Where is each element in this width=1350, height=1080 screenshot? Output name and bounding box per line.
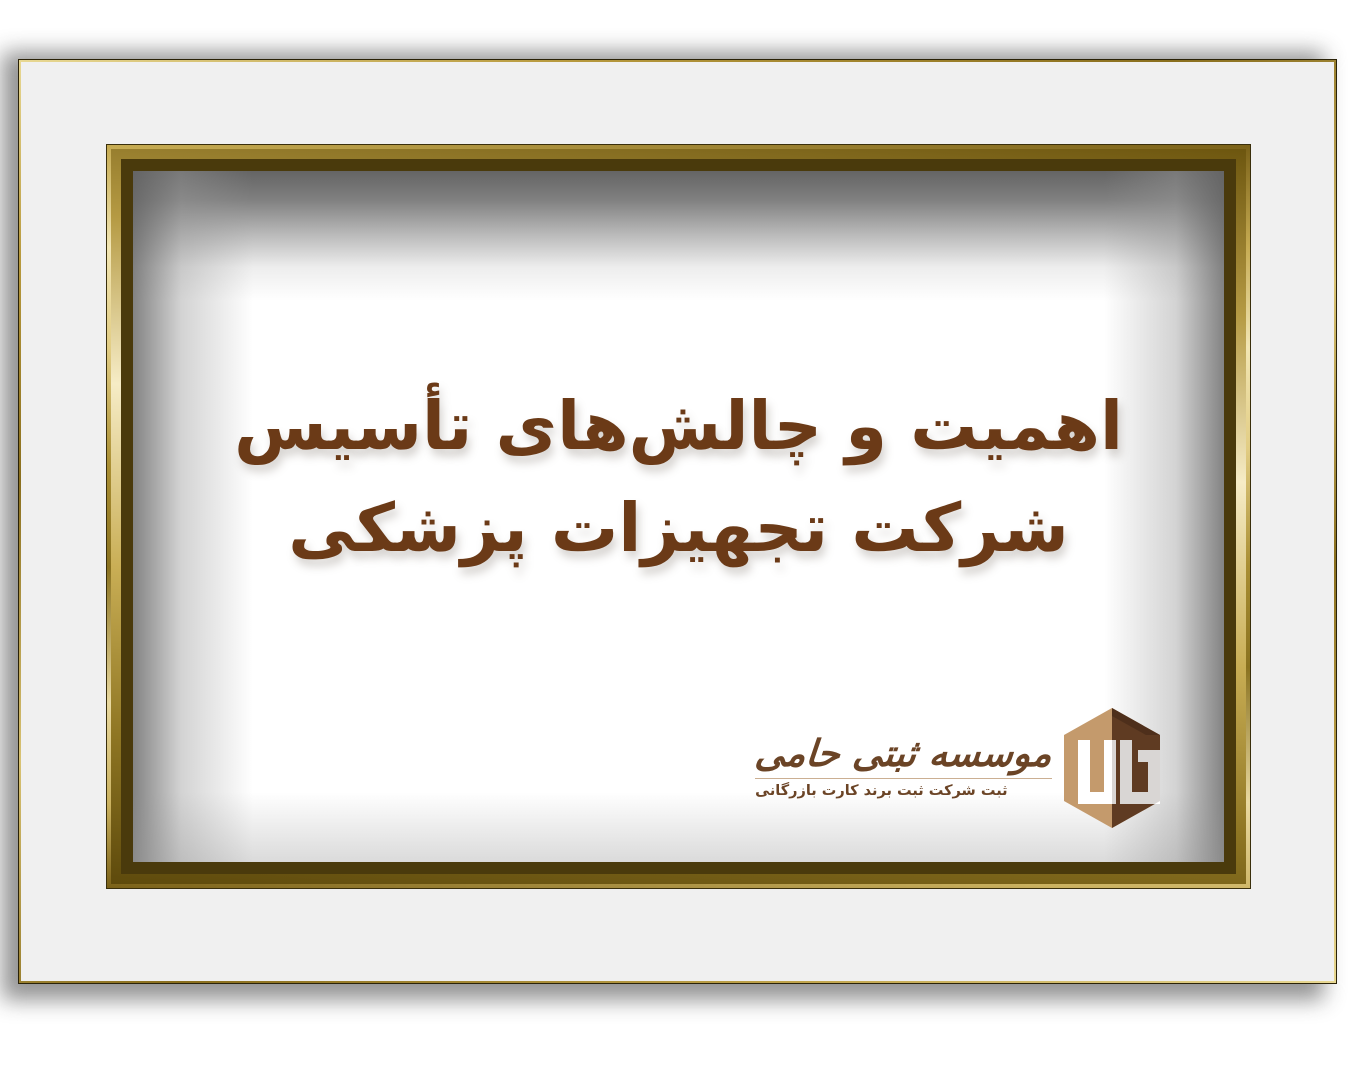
gold-inner-frame: اهمیت و چالش‌های تأسیس شرکت تجهیزات پزشک… bbox=[107, 145, 1250, 888]
logo-text-block: موسسه ثبتی حامی ثبت شرکت ثبت برند کارت ب… bbox=[755, 735, 1052, 801]
logo-divider bbox=[755, 778, 1052, 779]
logo-wordmark: موسسه ثبتی حامی bbox=[753, 735, 1053, 774]
page-title-line-1: اهمیت و چالش‌های تأسیس bbox=[133, 376, 1224, 478]
vignette-top bbox=[133, 171, 1224, 301]
inner-frame-inner-line: اهمیت و چالش‌های تأسیس شرکت تجهیزات پزشک… bbox=[121, 159, 1236, 874]
slide-canvas: اهمیت و چالش‌های تأسیس شرکت تجهیزات پزشک… bbox=[0, 0, 1350, 1080]
artwork-area: اهمیت و چالش‌های تأسیس شرکت تجهیزات پزشک… bbox=[133, 171, 1224, 862]
brand-logo: موسسه ثبتی حامی ثبت شرکت ثبت برند کارت ب… bbox=[755, 706, 1164, 830]
hexagon-monogram-icon bbox=[1060, 706, 1164, 830]
page-title: اهمیت و چالش‌های تأسیس شرکت تجهیزات پزشک… bbox=[133, 376, 1224, 580]
page-title-line-2: شرکت تجهیزات پزشکی bbox=[133, 478, 1224, 580]
logo-tagline: ثبت شرکت ثبت برند کارت بازرگانی bbox=[755, 783, 1007, 799]
inner-frame-bevel: اهمیت و چالش‌های تأسیس شرکت تجهیزات پزشک… bbox=[111, 149, 1246, 884]
